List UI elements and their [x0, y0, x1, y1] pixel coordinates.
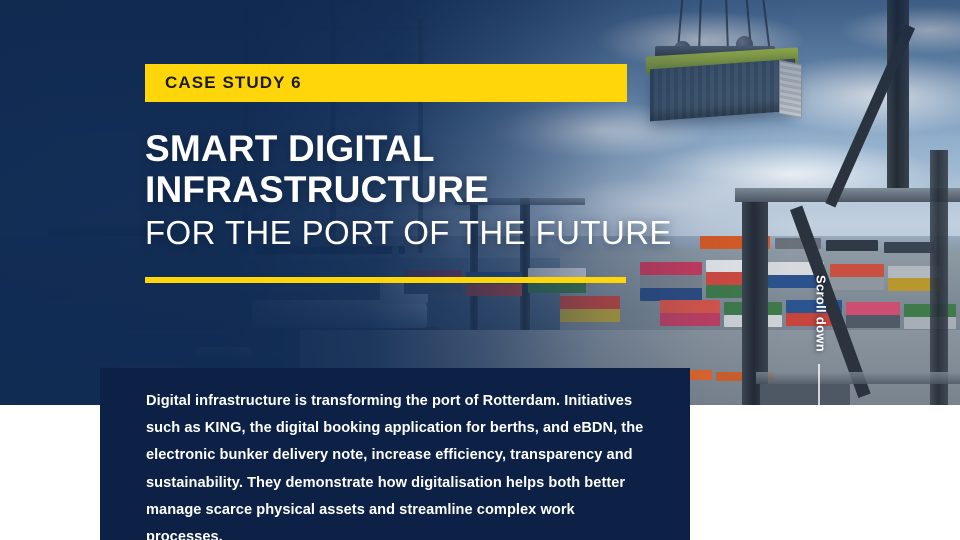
scroll-down-label[interactable]: Scroll down: [814, 268, 829, 360]
intro-text-panel: Digital infrastructure is transforming t…: [100, 368, 690, 540]
title-subline: FOR THE PORT OF THE FUTURE: [145, 212, 765, 253]
title-line-2: INFRASTRUCTURE: [145, 169, 765, 210]
white-area-bottom-left: [0, 405, 100, 540]
case-study-banner: CASE STUDY 6: [145, 64, 627, 102]
scroll-down-line: [818, 364, 820, 468]
white-gap-bottom: [690, 405, 703, 540]
title-line-1: SMART DIGITAL: [145, 128, 765, 169]
slide-canvas: CASE STUDY 6 SMART DIGITAL INFRASTRUCTUR…: [0, 0, 960, 540]
intro-paragraph: Digital infrastructure is transforming t…: [100, 368, 690, 540]
case-study-label: CASE STUDY 6: [145, 73, 302, 93]
yellow-divider-rule: [145, 277, 626, 283]
scroll-down-hint[interactable]: Scroll down: [806, 268, 832, 468]
page-title: SMART DIGITAL INFRASTRUCTURE FOR THE POR…: [145, 128, 765, 253]
